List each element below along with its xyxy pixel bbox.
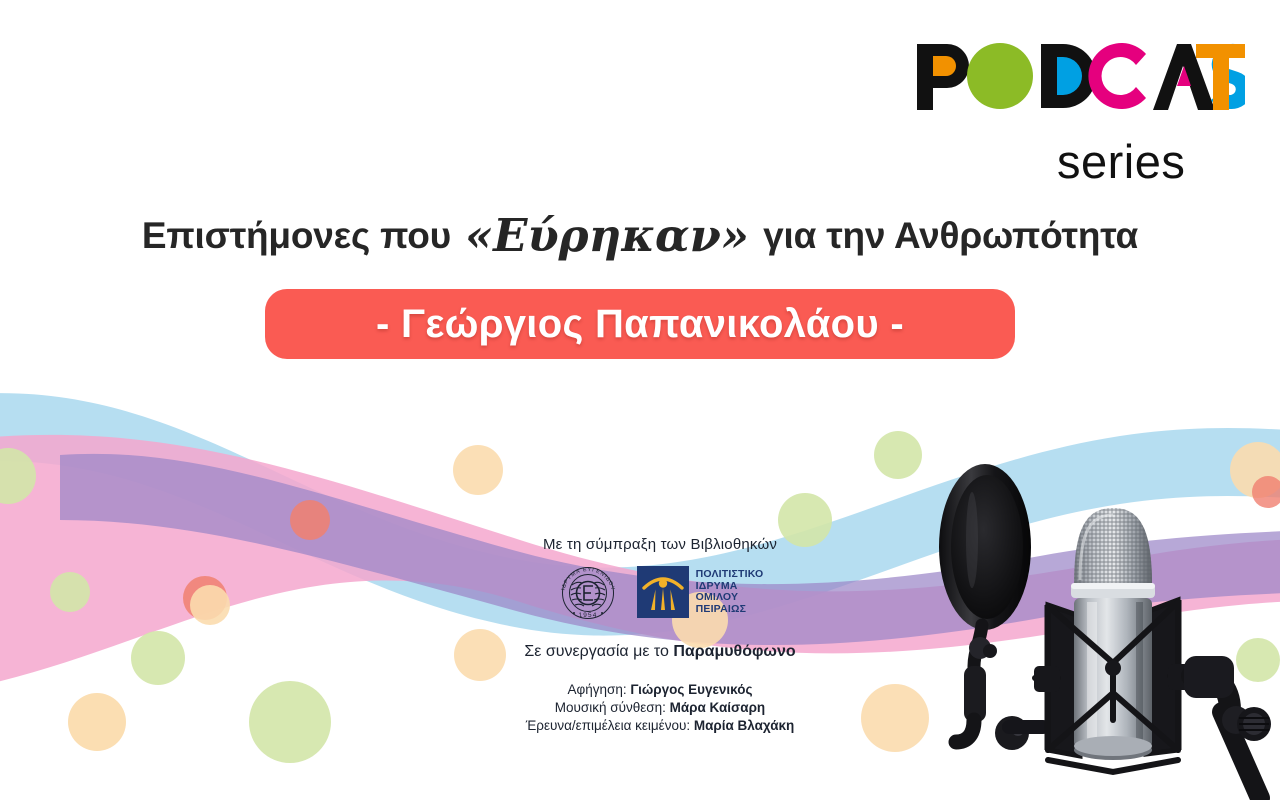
logo-letter-c bbox=[1088, 43, 1146, 109]
piop-line-1: ΠΟΛΙΤΙΣΤΙΚΟ bbox=[696, 569, 764, 581]
tension-knob bbox=[1237, 707, 1271, 741]
partner-logos-row: ΙΔΡΥΜΑ ΕΥΓΕΝΙΔΟΥ 1954 ΠΟΛΙΤΙΣΤΙΚΟ bbox=[340, 563, 980, 621]
svg-text:ΙΔΡΥΜΑ ΕΥΓΕΝΙΔΟΥ: ΙΔΡΥΜΑ ΕΥΓΕΝΙΔΟΥ bbox=[560, 567, 615, 592]
deco-circle bbox=[131, 631, 185, 685]
piop-line-3: ΟΜΙΛΟΥ bbox=[696, 592, 764, 604]
headline-after: για την Ανθρωπότητα bbox=[763, 215, 1138, 256]
deco-circle bbox=[190, 585, 230, 625]
partners-heading: Με τη σύμπραξη των Βιβλιοθηκών bbox=[340, 536, 980, 553]
collab-partner-name: Παραμυθόφωνο bbox=[673, 643, 795, 660]
credits-block: Με τη σύμπραξη των Βιβλιοθηκών bbox=[340, 536, 980, 735]
logo-letter-d bbox=[1041, 44, 1096, 108]
piop-mark-icon bbox=[637, 566, 689, 618]
role-research: Έρευνα/επιμέλεια κειμένου: Μαρία Βλαχάκη bbox=[340, 717, 980, 735]
deco-circle bbox=[453, 445, 503, 495]
deco-circle bbox=[249, 681, 331, 763]
piop-logo: ΠΟΛΙΤΙΣΤΙΚΟ ΙΔΡΥΜΑ ΟΜΙΛΟΥ ΠΕΙΡΑΙΩΣ bbox=[637, 566, 764, 618]
deco-circle bbox=[874, 431, 922, 479]
role-name: Μάρα Καίσαρη bbox=[670, 700, 766, 715]
svg-text:1954: 1954 bbox=[578, 612, 597, 619]
headline-before: Επιστήμονες που bbox=[142, 215, 451, 256]
role-name: Γιώργος Ευγενικός bbox=[630, 682, 752, 697]
deco-circle bbox=[68, 693, 126, 751]
role-label: Μουσική σύνθεση: bbox=[555, 700, 670, 715]
podcast-series-logo: series bbox=[915, 42, 1255, 172]
role-narration: Αφήγηση: Γιώργος Ευγενικός bbox=[340, 681, 980, 699]
eugenides-foundation-logo: ΙΔΡΥΜΑ ΕΥΓΕΝΙΔΟΥ 1954 bbox=[557, 563, 619, 621]
piop-wordmark: ΠΟΛΙΤΙΣΤΙΚΟ ΙΔΡΥΜΑ ΟΜΙΛΟΥ ΠΕΙΡΑΙΩΣ bbox=[696, 569, 764, 615]
podcast-series-label: series bbox=[1057, 138, 1185, 185]
pop-filter bbox=[939, 464, 1050, 750]
subject-name-label: - Γεώργιος Παπανικολάου - bbox=[376, 302, 904, 347]
role-music: Μουσική σύνθεση: Μάρα Καίσαρη bbox=[340, 699, 980, 717]
role-label: Έρευνα/επιμέλεια κειμένου: bbox=[526, 718, 694, 733]
roles-list: Αφήγηση: Γιώργος Ευγενικός Μουσική σύνθε… bbox=[340, 681, 980, 735]
piop-line-4: ΠΕΙΡΑΙΩΣ bbox=[696, 604, 764, 616]
microphone-stand bbox=[1184, 656, 1271, 798]
logo-letter-o bbox=[967, 43, 1033, 109]
deco-circle bbox=[50, 572, 90, 612]
page-title: Επιστήμονες που «Εύρηκαν» για την Ανθρωπ… bbox=[0, 206, 1280, 259]
microphone-image bbox=[930, 420, 1280, 800]
headline-script-word: «Εύρηκαν» bbox=[461, 209, 753, 262]
role-label: Αφήγηση: bbox=[568, 682, 631, 697]
collab-prefix: Σε συνεργασία με το bbox=[524, 643, 673, 660]
collaboration-line: Σε συνεργασία με το Παραμυθόφωνο bbox=[340, 643, 980, 661]
podcast-poster: series Επιστήμονες που «Εύρηκαν» για την… bbox=[0, 0, 1280, 800]
logo-letter-p bbox=[917, 44, 969, 110]
role-name: Μαρία Βλαχάκη bbox=[694, 718, 794, 733]
deco-circle bbox=[290, 500, 330, 540]
podcast-wordmark bbox=[915, 42, 1245, 112]
status-badge: - Γεώργιος Παπανικολάου - bbox=[265, 289, 1015, 359]
